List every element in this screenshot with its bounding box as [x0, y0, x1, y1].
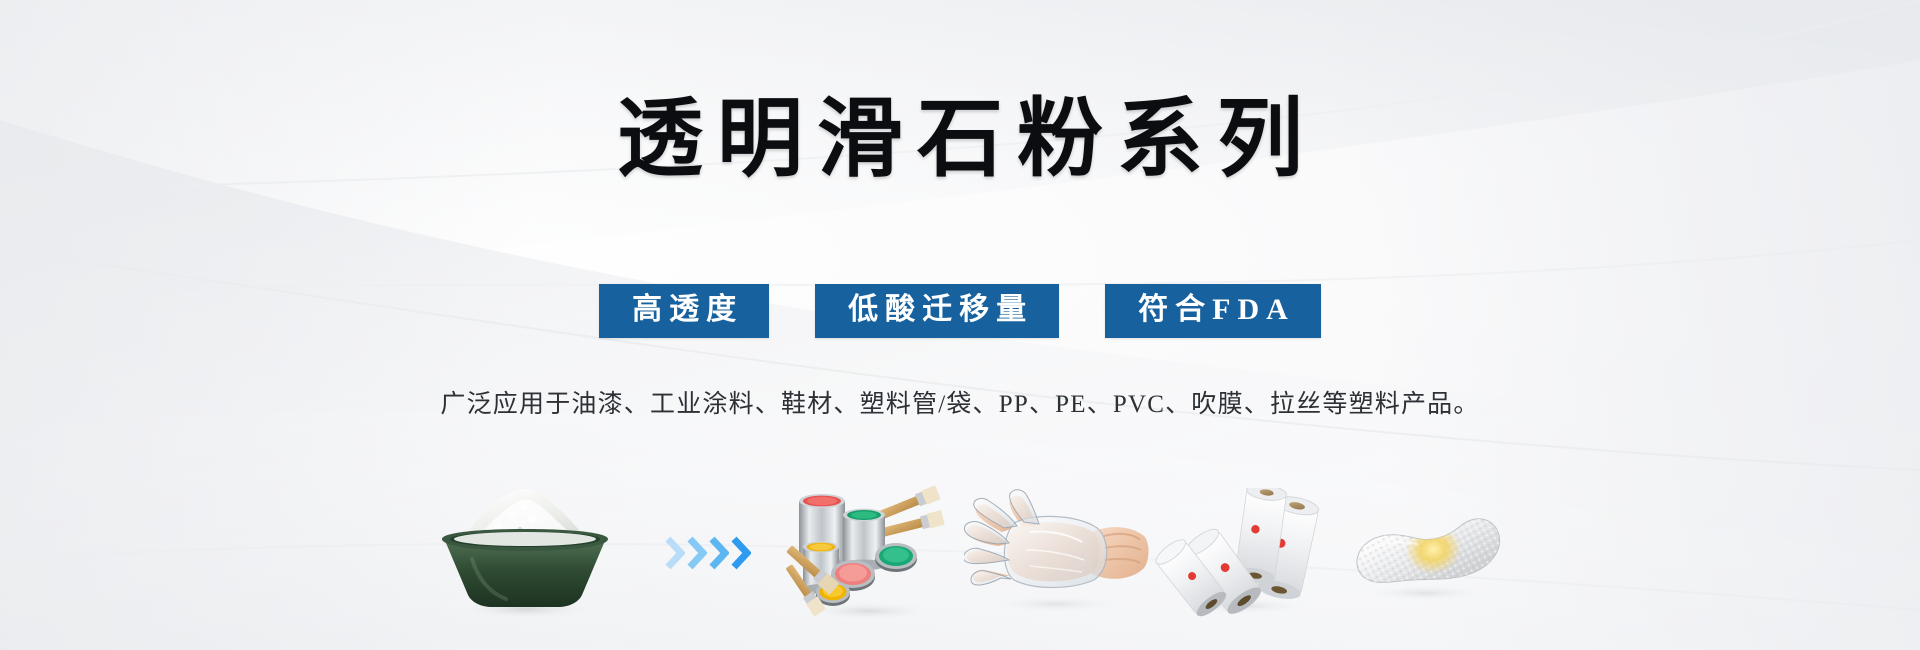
arrow-group: [665, 536, 751, 570]
application-description: 广泛应用于油漆、工业涂料、鞋材、塑料管/袋、PP、PE、PVC、吹膜、拉丝等塑料…: [440, 384, 1479, 420]
feature-badge-high-transparency[interactable]: 高透度: [599, 284, 769, 339]
illustration-shoe-sole: [1336, 473, 1510, 633]
talc-powder-bowl-icon: [420, 483, 630, 623]
chevron-right-icon-1: [665, 536, 685, 570]
chevron-right-icon-2: [687, 536, 707, 570]
feature-badge-low-acid-migration[interactable]: 低酸迁移量: [815, 284, 1059, 339]
illustration-process-arrows: [639, 473, 777, 633]
illustration-strip: [410, 473, 1510, 633]
illustration-paint-cans: [777, 473, 960, 633]
page-title: 透明滑石粉系列: [603, 96, 1317, 182]
feature-badge-fda-compliant[interactable]: 符合FDA: [1105, 284, 1321, 339]
plastic-film-rolls-icon: [1154, 488, 1334, 618]
illustration-talc-powder: [410, 473, 639, 633]
illustration-film-rolls: [1153, 473, 1336, 633]
shoe-sole-icon: [1338, 493, 1508, 613]
paint-cans-icon: [781, 483, 956, 623]
feature-badge-list: 高透度 低酸迁移量 符合FDA: [599, 284, 1321, 339]
hand-with-plastic-glove-icon: [964, 488, 1149, 618]
chevron-right-icon-3: [709, 536, 729, 570]
product-banner: 透明滑石粉系列 高透度 低酸迁移量 符合FDA 广泛应用于油漆、工业涂料、鞋材、…: [0, 0, 1920, 650]
paint-lid-green: [875, 543, 917, 572]
chevron-right-icon-4: [731, 536, 751, 570]
illustration-gloved-hand: [960, 473, 1153, 633]
